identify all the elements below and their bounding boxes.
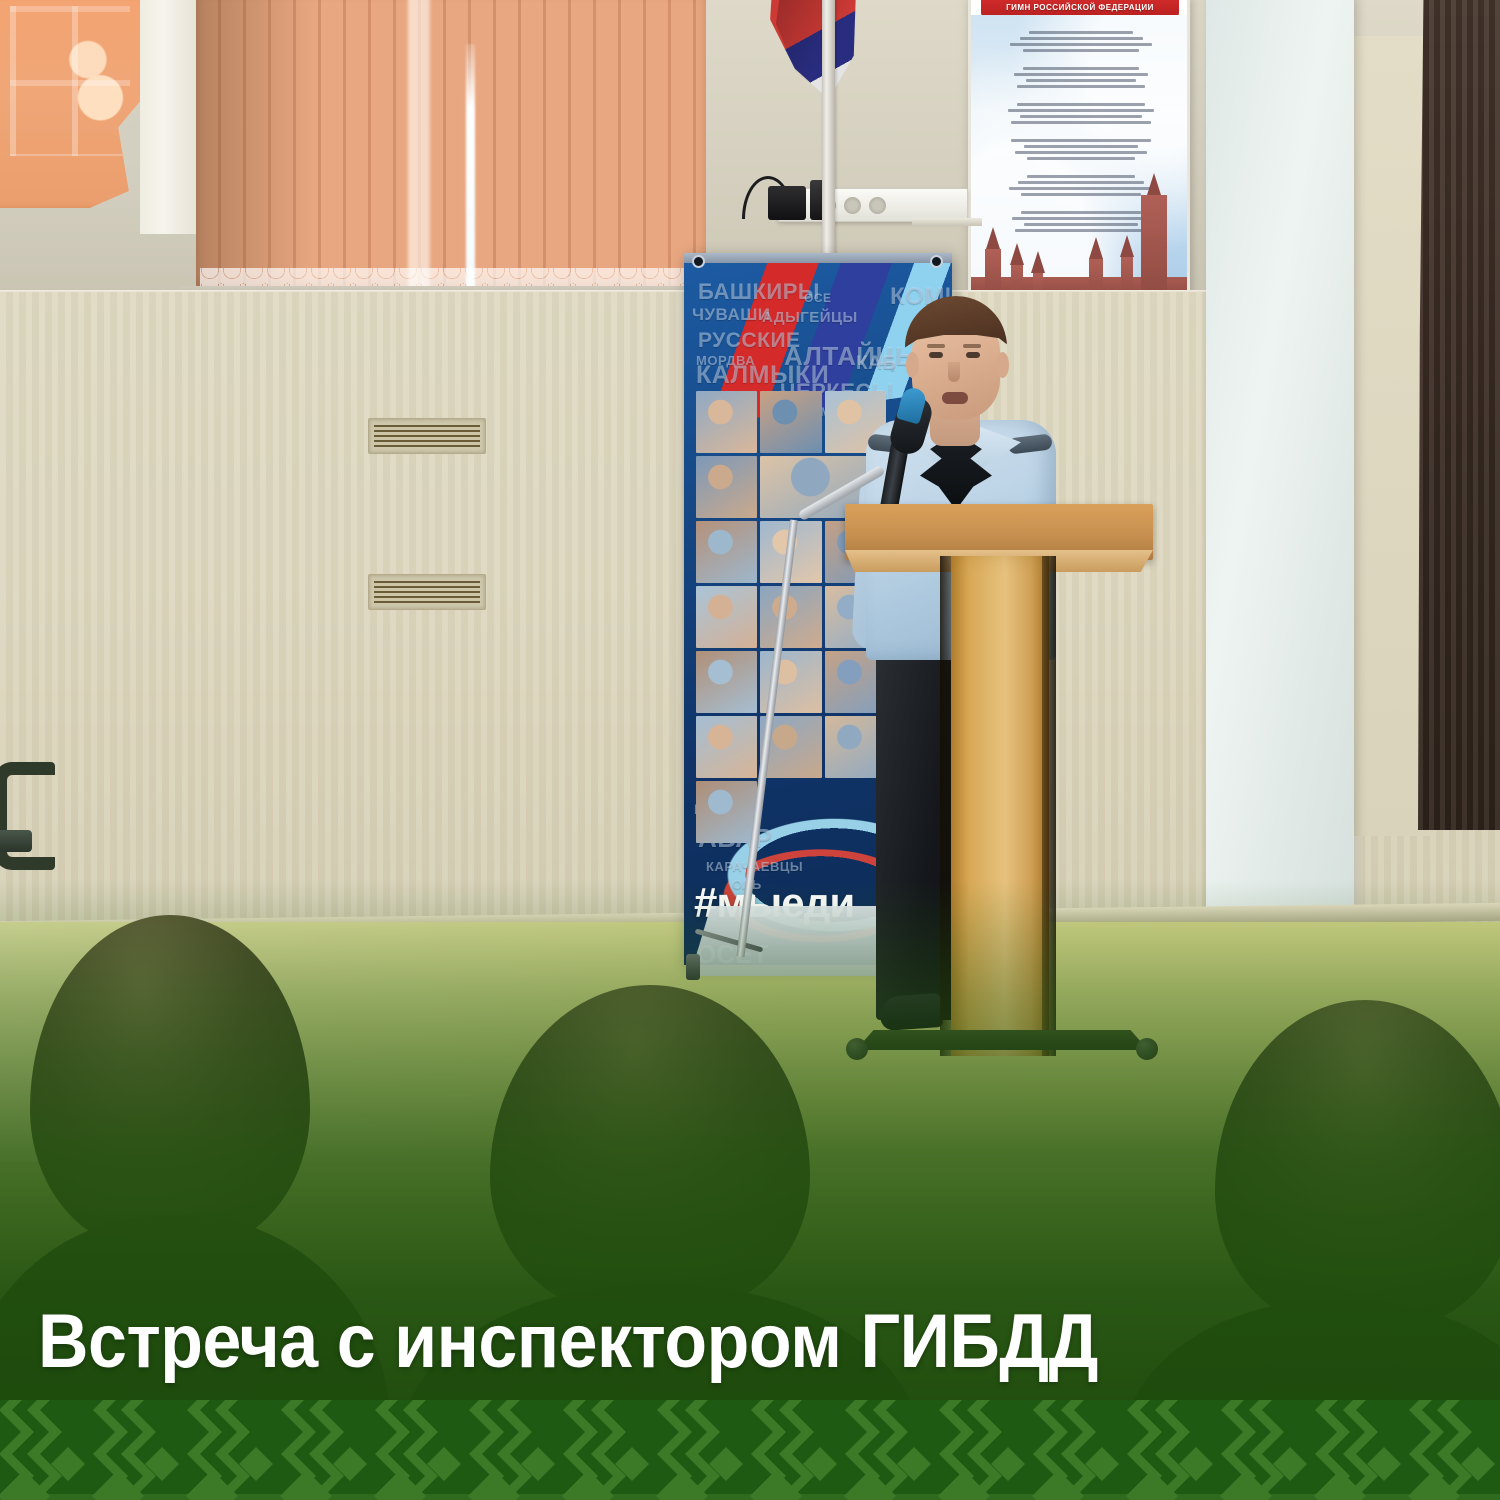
banner-top-rail bbox=[684, 253, 952, 263]
anthem-text-line bbox=[1015, 151, 1148, 154]
banner-stand-foot bbox=[686, 954, 700, 980]
banner-ethnic-label: АДЫГЕЙЦЫ bbox=[762, 309, 858, 326]
banner-collage-photo bbox=[760, 586, 821, 648]
banner-collage-photo bbox=[696, 521, 757, 583]
anthem-text-line bbox=[1027, 157, 1135, 160]
anthem-text-line bbox=[1024, 145, 1139, 148]
blinds-light-gap bbox=[466, 44, 475, 294]
banner-collage-photo bbox=[696, 781, 757, 843]
banner-collage-photo bbox=[696, 651, 757, 713]
banner-collage-photo bbox=[696, 391, 757, 453]
anthem-text-line bbox=[1011, 139, 1150, 142]
ornament-border bbox=[0, 1400, 1500, 1500]
speaker-nose bbox=[948, 362, 960, 382]
banner-ethnic-label: ОСЕ bbox=[804, 291, 832, 305]
anthem-stanza bbox=[999, 139, 1163, 163]
photo-card: ГИМН РОССИЙСКОЙ ФЕДЕРАЦИИ bbox=[0, 0, 1500, 1500]
anthem-text-line bbox=[1017, 85, 1145, 88]
anthem-text-line bbox=[1017, 103, 1145, 106]
card-caption: Встреча с инспектором ГИБДД bbox=[38, 1304, 1098, 1380]
banner-collage-photo bbox=[760, 391, 821, 453]
podium-base bbox=[856, 1030, 1148, 1050]
wall-vent-upper bbox=[368, 418, 486, 454]
speaker-eyebrow bbox=[927, 344, 945, 348]
anthem-text-line bbox=[1029, 31, 1134, 34]
russian-anthem-poster: ГИМН РОССИЙСКОЙ ФЕДЕРАЦИИ bbox=[968, 0, 1190, 306]
anthem-text-line bbox=[1020, 115, 1141, 118]
power-plug bbox=[768, 186, 806, 220]
banner-collage-photo bbox=[696, 716, 757, 778]
banner-collage-photo bbox=[696, 456, 757, 518]
anthem-text-line bbox=[1027, 175, 1135, 178]
podium-column-shadow bbox=[1042, 556, 1056, 1056]
anthem-text-line bbox=[1008, 109, 1154, 112]
blinds-shadow bbox=[196, 0, 316, 288]
anthem-stanza bbox=[999, 103, 1163, 127]
outlet-socket-icon bbox=[869, 197, 886, 214]
podium-caster bbox=[1136, 1038, 1158, 1060]
anthem-text-line bbox=[1014, 73, 1148, 76]
anthem-stanza bbox=[999, 31, 1163, 55]
anthem-text-line bbox=[1023, 67, 1139, 70]
wall-vent-lower bbox=[368, 574, 486, 610]
speaker-eye bbox=[966, 352, 980, 358]
podium-column bbox=[951, 556, 1049, 1056]
wall-outlet-strip bbox=[778, 188, 968, 222]
blinds-light-band bbox=[408, 0, 430, 292]
banner-ethnic-label: БАШКИРЫ bbox=[698, 279, 820, 305]
ornament-pattern bbox=[0, 1400, 1500, 1500]
anthem-text-line bbox=[1023, 49, 1139, 52]
banner-collage-photo bbox=[696, 586, 757, 648]
podium-caster bbox=[846, 1038, 868, 1060]
anthem-text-line bbox=[1011, 121, 1150, 124]
speaker-eye bbox=[929, 352, 943, 358]
wall-shelf bbox=[912, 218, 982, 226]
anthem-text-line bbox=[1020, 37, 1143, 40]
banner-grommet bbox=[930, 255, 943, 268]
outlet-socket-icon bbox=[844, 197, 861, 214]
anthem-stanza bbox=[999, 67, 1163, 91]
kremlin-illustration bbox=[971, 183, 1187, 303]
speaker-mouth bbox=[942, 392, 968, 404]
speaker-ear bbox=[996, 352, 1009, 378]
banner-grommet bbox=[692, 255, 705, 268]
chair-armrest bbox=[0, 762, 55, 870]
anthem-text-line bbox=[1026, 79, 1136, 82]
photograph: ГИМН РОССИЙСКОЙ ФЕДЕРАЦИИ bbox=[0, 0, 1500, 1500]
window-curtain bbox=[1418, 0, 1500, 830]
speaker-shoe bbox=[879, 993, 943, 1031]
chair-seat bbox=[0, 830, 32, 852]
speaker-eyebrow bbox=[963, 344, 981, 348]
poster-white-edge bbox=[140, 0, 198, 234]
banner-ethnic-label: КАБ bbox=[856, 353, 896, 375]
speaker-ear bbox=[906, 352, 919, 378]
banner-ethnic-label: ЧУВАШИ bbox=[692, 305, 771, 325]
whiteboard-panel bbox=[1206, 0, 1354, 929]
anthem-text-line bbox=[1010, 43, 1151, 46]
